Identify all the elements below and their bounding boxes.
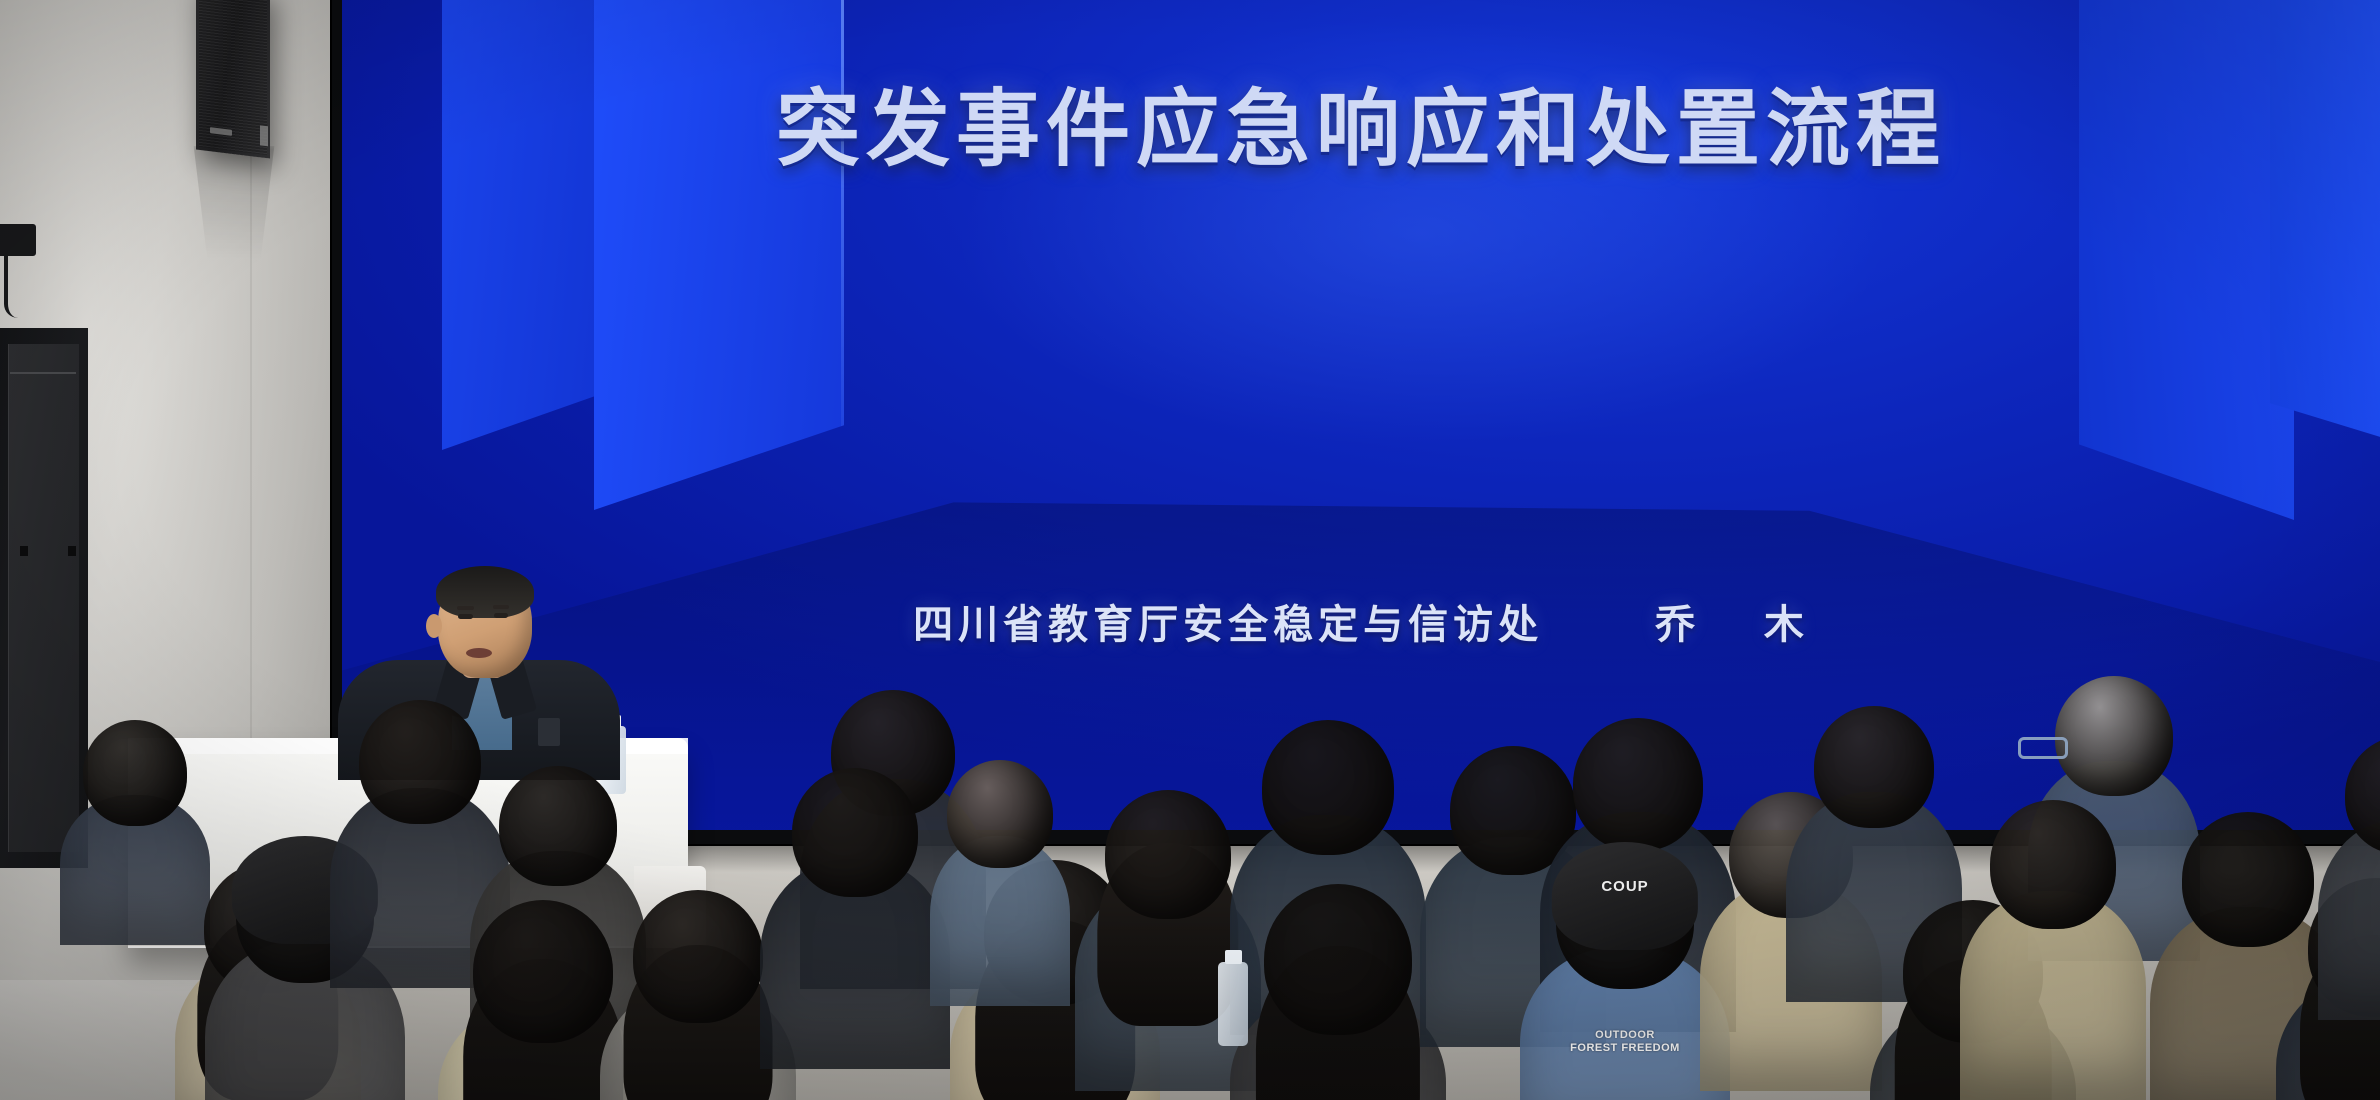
presenter-brow-left [457,606,474,610]
pa-speaker-icon [196,0,270,159]
presenter-mouth [466,648,492,658]
presenter-name-2: 木 [1764,601,1809,648]
slide-presenter-line: 四川省教育厅安全稳定与信访处 乔 木 [342,592,2380,650]
led-screen-frame: 突发事件应急响应和处置流程 四川省教育厅安全稳定与信访处 乔 木 [330,0,2380,846]
equipment-rack [0,328,88,868]
slide-title: 突发事件应急响应和处置流程 [342,62,2380,183]
presenter-brow-right [493,605,509,609]
presenter-person [370,568,590,768]
presenter-name-1: 乔 [1655,601,1700,648]
presenter-org: 四川省教育厅安全稳定与信访处 [913,601,1543,648]
presenter-ear [426,614,442,638]
rack-lock-icon [20,546,28,556]
rack-handle-icon [68,546,76,556]
wall-cable [4,252,18,318]
presenter-pocket-badge [538,718,560,746]
rack-door [8,344,79,852]
speaker-side-tag [260,125,268,146]
presenter-eye-right [494,613,508,618]
rack-seam [10,372,76,374]
presenter-hair [436,566,534,618]
presenter-eye-left [458,614,473,619]
led-screen: 突发事件应急响应和处置流程 四川省教育厅安全稳定与信访处 乔 木 [342,0,2380,830]
screenshot-root: 突发事件应急响应和处置流程 四川省教育厅安全稳定与信访处 乔 木 [0,0,2380,1100]
wall-baseboard [0,980,348,1100]
podium-side-step [634,866,706,948]
